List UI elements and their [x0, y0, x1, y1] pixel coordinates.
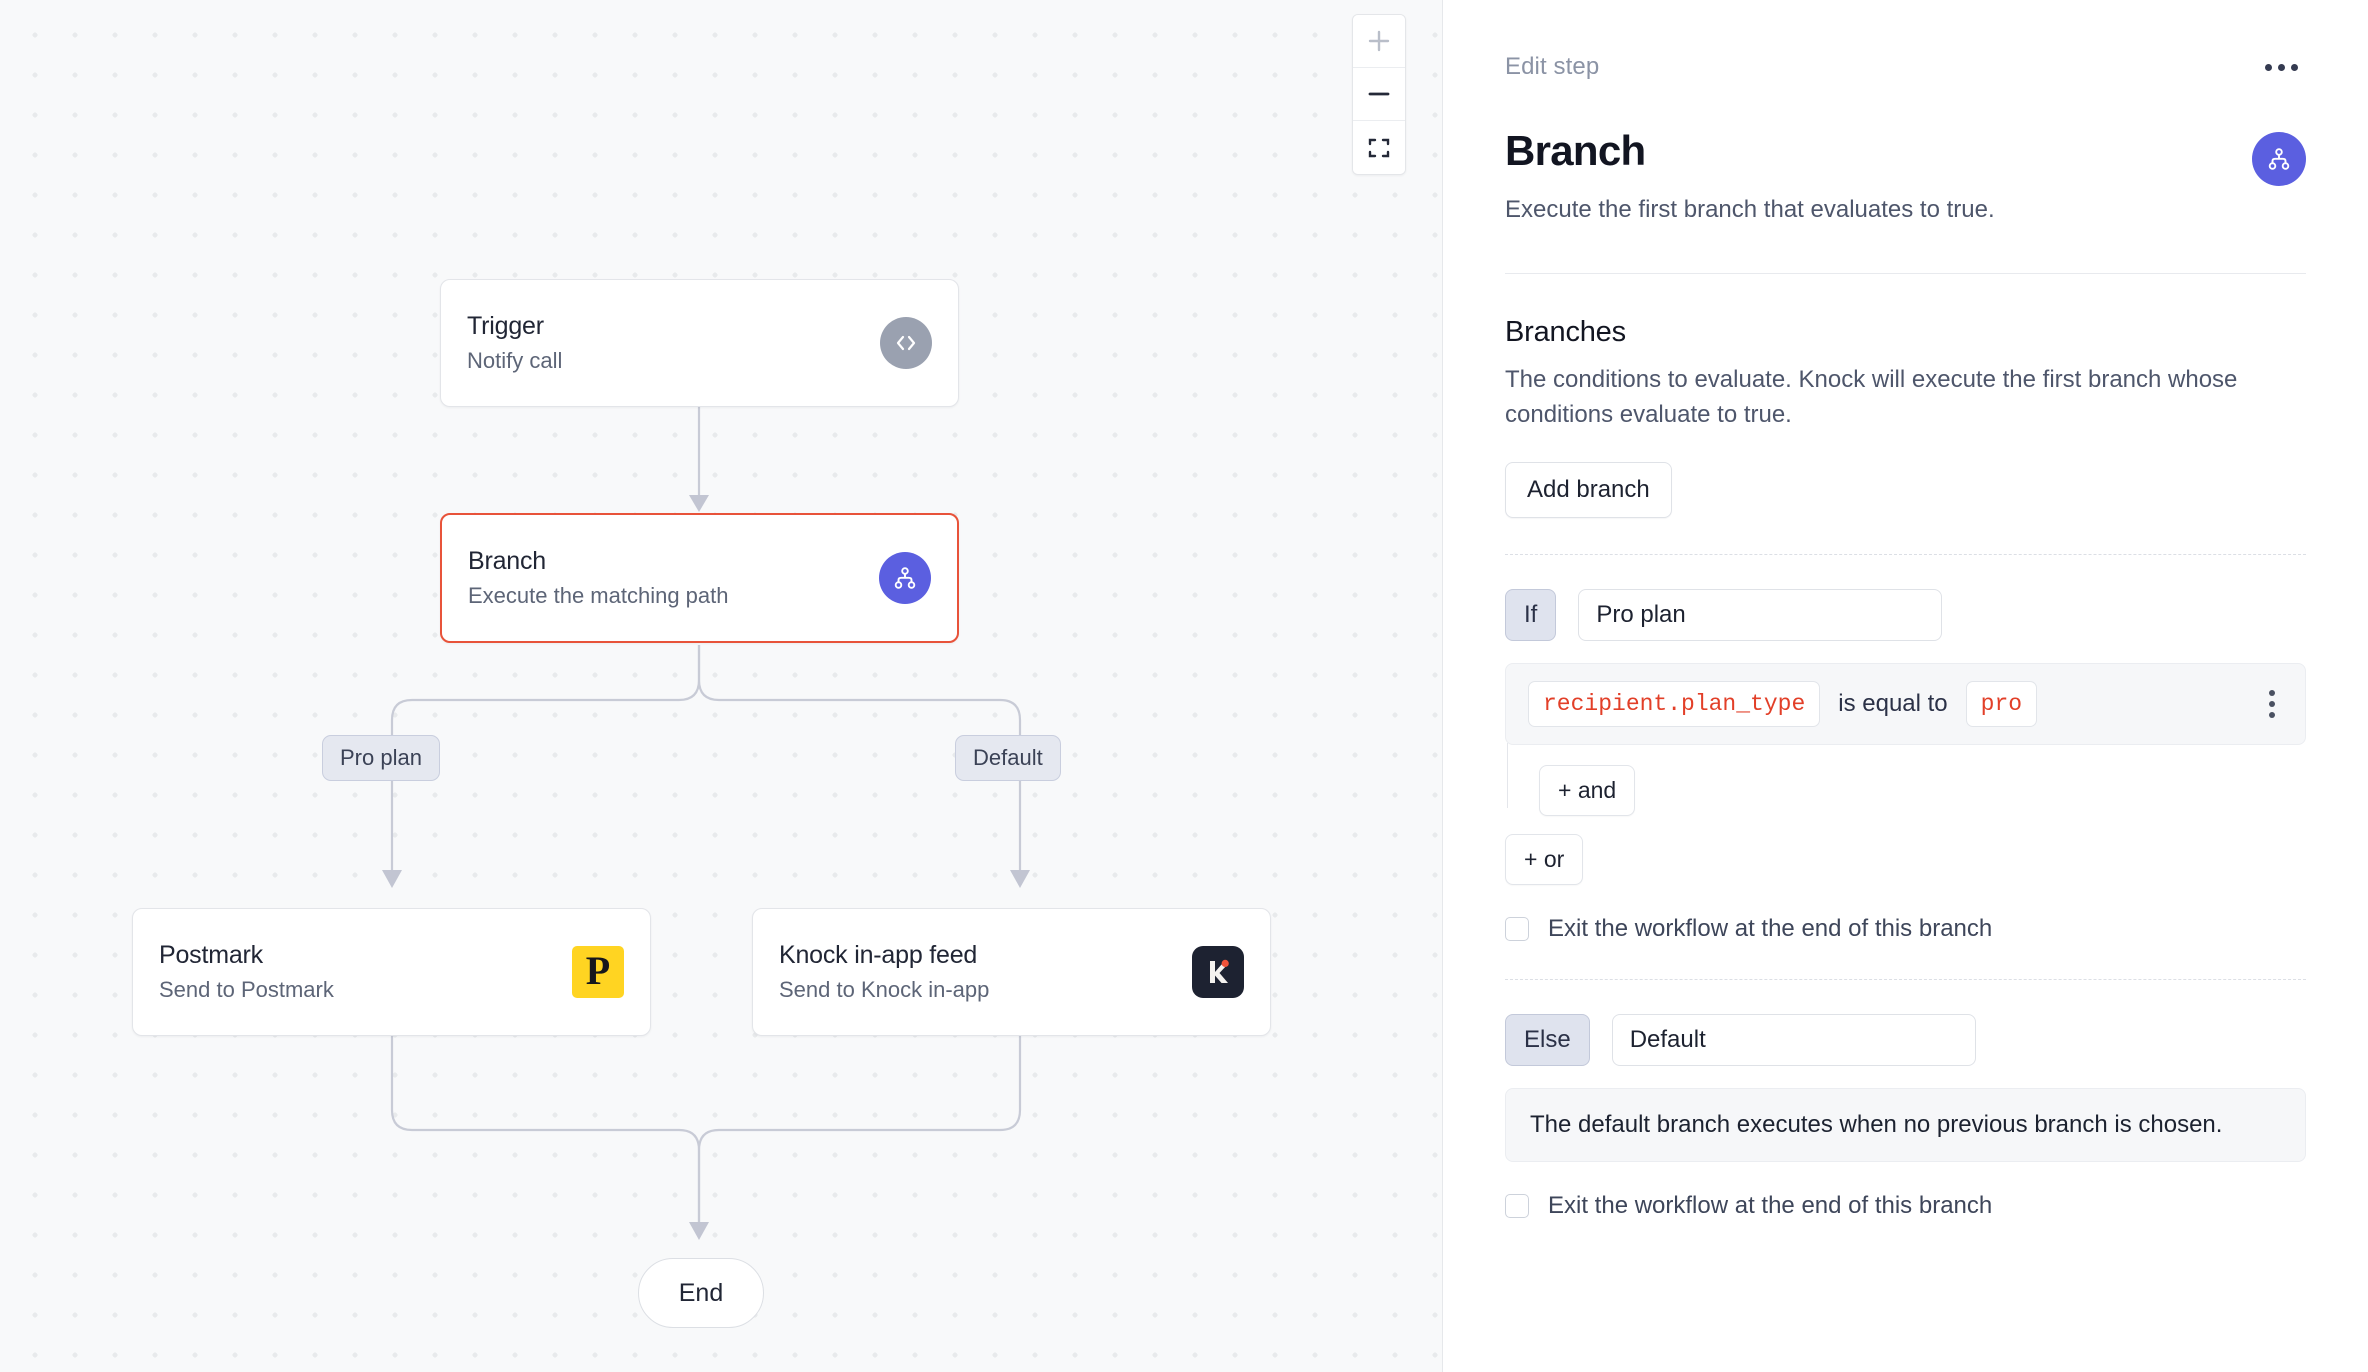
panel-topbar: Edit step	[1505, 50, 2306, 84]
branch-else-name-input[interactable]	[1612, 1014, 1976, 1066]
add-or-button[interactable]: + or	[1505, 834, 1583, 885]
condition-value[interactable]: pro	[1966, 681, 2037, 727]
node-icon	[879, 552, 931, 604]
branch-else-exit-checkbox[interactable]	[1505, 1194, 1529, 1218]
panel-header-icon	[2252, 132, 2306, 186]
node-icon	[880, 317, 932, 369]
branch-if-divider	[1505, 979, 2306, 980]
zoom-out-button[interactable]	[1353, 68, 1405, 121]
postmark-stamp-icon: P	[572, 946, 624, 998]
fit-view-button[interactable]	[1353, 121, 1405, 174]
workflow-node-knock-in-app-feed[interactable]: Knock in-app feed Send to Knock in-app	[752, 908, 1271, 1036]
end-label: End	[679, 1279, 723, 1308]
more-options-icon[interactable]	[2257, 56, 2306, 79]
node-text: Knock in-app feed Send to Knock in-app	[779, 940, 1174, 1005]
branch-else-exit-checkbox-row[interactable]: Exit the workflow at the end of this bra…	[1505, 1192, 2306, 1220]
branch-if-conditions: recipient.plan_type is equal to pro	[1505, 663, 2306, 745]
add-or-wrapper: + or	[1505, 834, 2306, 885]
zoom-in-button[interactable]	[1353, 15, 1405, 68]
branch-if-exit-checkbox[interactable]	[1505, 917, 1529, 941]
condition-operator[interactable]: is equal to	[1838, 690, 1947, 718]
condition-row[interactable]: recipient.plan_type is equal to pro	[1505, 663, 2306, 745]
branch-else-info: The default branch executes when no prev…	[1505, 1088, 2306, 1162]
branch-label-default[interactable]: Default	[955, 735, 1061, 781]
page-description: Execute the first branch that evaluates …	[1505, 193, 2232, 227]
fit-view-icon	[1366, 135, 1392, 161]
branch-tree-icon	[879, 552, 931, 604]
breadcrumb: Edit step	[1505, 53, 1599, 81]
node-text: Trigger Notify call	[467, 311, 862, 376]
node-subtitle: Execute the matching path	[468, 582, 861, 611]
branch-tree-icon	[2252, 132, 2306, 186]
edit-step-panel: Edit step Branch Execute the first branc…	[1443, 0, 2368, 1372]
page-title: Branch	[1505, 128, 2232, 174]
workflow-node-postmark[interactable]: Postmark Send to Postmark P	[132, 908, 651, 1036]
branch-if-name-input[interactable]	[1578, 589, 1942, 641]
plus-icon	[1366, 28, 1392, 54]
branches-divider	[1505, 554, 2306, 555]
code-brackets-icon	[880, 317, 932, 369]
node-title: Branch	[468, 546, 861, 577]
branch-else-exit-label: Exit the workflow at the end of this bra…	[1548, 1192, 1992, 1220]
branches-section-title: Branches	[1505, 316, 2306, 349]
branch-else-header: Else	[1505, 1014, 2306, 1066]
branch-label-pro-plan[interactable]: Pro plan	[322, 735, 440, 781]
branch-else: Else The default branch executes when no…	[1505, 1014, 2306, 1220]
edge-layer	[0, 0, 1443, 1372]
node-icon: P	[572, 946, 624, 998]
workflow-node-end[interactable]: End	[638, 1258, 764, 1328]
node-subtitle: Send to Postmark	[159, 976, 554, 1005]
add-and-button[interactable]: + and	[1539, 765, 1635, 816]
postmark-letter: P	[586, 951, 610, 991]
node-icon	[1192, 946, 1244, 998]
header-divider	[1505, 273, 2306, 274]
node-title: Knock in-app feed	[779, 940, 1174, 971]
node-subtitle: Notify call	[467, 347, 862, 376]
branch-if-header: If	[1505, 589, 2306, 641]
canvas-zoom-controls[interactable]	[1352, 14, 1406, 175]
workflow-node-trigger[interactable]: Trigger Notify call	[440, 279, 959, 407]
node-text: Branch Execute the matching path	[468, 546, 861, 611]
condition-field[interactable]: recipient.plan_type	[1528, 681, 1820, 727]
branch-if: If recipient.plan_type is equal to pro +…	[1505, 589, 2306, 943]
panel-header: Branch Execute the first branch that eva…	[1505, 128, 2306, 227]
branch-if-exit-label: Exit the workflow at the end of this bra…	[1548, 915, 1992, 943]
minus-icon	[1366, 81, 1392, 107]
condition-options-icon[interactable]	[2261, 682, 2283, 726]
edge-postmark-end	[392, 1036, 699, 1222]
node-subtitle: Send to Knock in-app	[779, 976, 1174, 1005]
workflow-canvas[interactable]: Trigger Notify call Branch Execute the m…	[0, 0, 1443, 1372]
branches-section-description: The conditions to evaluate. Knock will e…	[1505, 363, 2306, 433]
add-and-wrapper: + and	[1505, 765, 2306, 816]
node-title: Postmark	[159, 940, 554, 971]
node-text: Postmark Send to Postmark	[159, 940, 554, 1005]
workflow-node-branch[interactable]: Branch Execute the matching path	[440, 513, 959, 643]
branch-if-chip: If	[1505, 589, 1556, 641]
knock-logo-icon	[1192, 946, 1244, 998]
edge-knock-end	[699, 1036, 1020, 1222]
branch-else-chip: Else	[1505, 1014, 1590, 1066]
node-title: Trigger	[467, 311, 862, 342]
workflow-editor: Trigger Notify call Branch Execute the m…	[0, 0, 2368, 1372]
add-branch-button[interactable]: Add branch	[1505, 462, 1672, 518]
branch-if-exit-checkbox-row[interactable]: Exit the workflow at the end of this bra…	[1505, 915, 2306, 943]
